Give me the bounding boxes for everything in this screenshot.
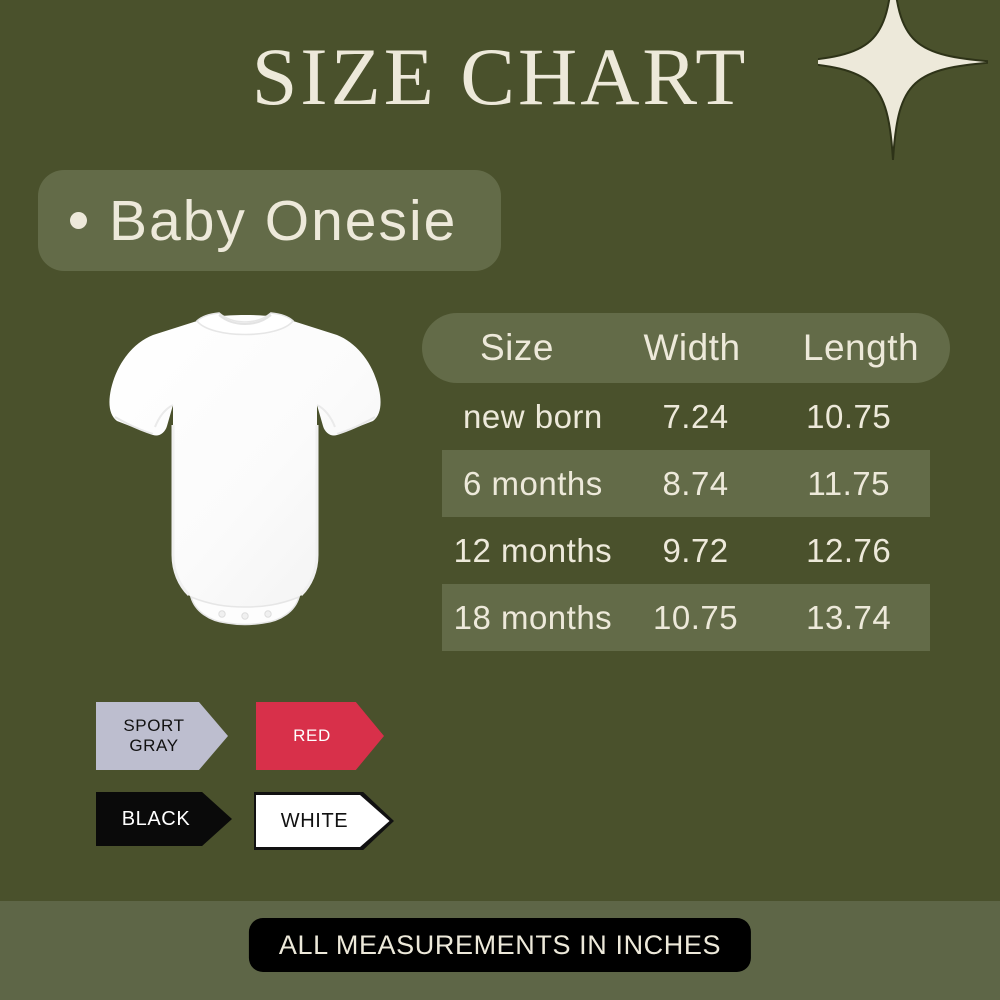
color-swatch-label: RED — [293, 726, 347, 746]
product-category-pill: Baby Onesie — [38, 170, 501, 271]
page-title: SIZE CHART — [0, 36, 1000, 118]
measurement-note-label: ALL MEASUREMENTS IN INCHES — [279, 930, 721, 961]
table-row: 18 months 10.75 13.74 — [442, 584, 930, 651]
color-swatch-white-fill: WHITE — [256, 795, 390, 847]
bullet-dot-icon — [70, 212, 87, 229]
size-table: Size Width Length new born 7.24 10.75 6 … — [422, 313, 950, 651]
cell-width: 7.24 — [624, 398, 768, 436]
color-swatch-label: WHITE — [281, 810, 364, 833]
color-swatch-sport-gray[interactable]: SPORT GRAY — [96, 702, 228, 770]
cell-length: 13.74 — [767, 599, 930, 637]
color-swatch-row: SPORT GRAY RED — [96, 702, 426, 770]
cell-size: 12 months — [442, 532, 624, 570]
baby-onesie-illustration — [85, 305, 405, 675]
color-swatch-white[interactable]: WHITE — [254, 792, 394, 850]
cell-size: 18 months — [442, 599, 624, 637]
measurement-note-pill: ALL MEASUREMENTS IN INCHES — [249, 918, 751, 972]
color-swatch-row: BLACK WHITE — [96, 792, 426, 850]
table-row: new born 7.24 10.75 — [442, 383, 930, 450]
cell-width: 10.75 — [624, 599, 768, 637]
color-swatch-label: SPORT GRAY — [123, 716, 200, 755]
cell-length: 12.76 — [767, 532, 930, 570]
cell-length: 11.75 — [767, 465, 930, 503]
size-table-header: Size Width Length — [422, 313, 950, 383]
cell-size: 6 months — [442, 465, 624, 503]
column-header-length: Length — [772, 327, 950, 369]
table-row: 6 months 8.74 11.75 — [442, 450, 930, 517]
column-header-size: Size — [422, 327, 612, 369]
color-swatch-group: SPORT GRAY RED BLACK WHITE — [96, 702, 426, 850]
color-swatch-label: BLACK — [122, 808, 207, 831]
color-swatch-black[interactable]: BLACK — [96, 792, 232, 846]
cell-width: 8.74 — [624, 465, 768, 503]
column-header-width: Width — [612, 327, 772, 369]
product-category-label: Baby Onesie — [109, 188, 457, 254]
table-row: 12 months 9.72 12.76 — [442, 517, 930, 584]
cell-length: 10.75 — [767, 398, 930, 436]
color-swatch-red[interactable]: RED — [256, 702, 384, 770]
cell-width: 9.72 — [624, 532, 768, 570]
size-chart-page: { "theme": { "background": "#4A512C", "p… — [0, 0, 1000, 1000]
cell-size: new born — [442, 398, 624, 436]
